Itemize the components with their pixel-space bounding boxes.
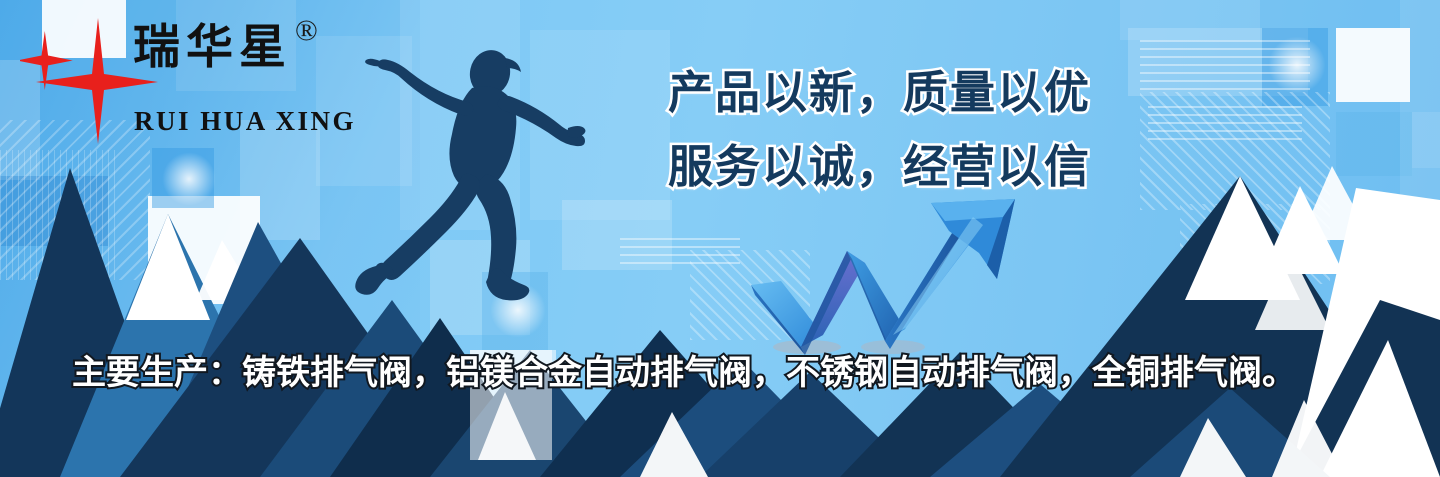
slogan-line-2: 服务以诚，经营以信 (668, 130, 1168, 204)
registered-trademark-icon: ® (295, 16, 318, 46)
logo-english-name: RUI HUA XING (134, 108, 356, 135)
company-banner: 瑞华星 ® RUI HUA XING 产品以新，质量以优 服务以诚，经营以信 主… (0, 0, 1440, 477)
product-list-text: 主要生产：铸铁排气阀，铝镁合金自动排气阀，不锈钢自动排气阀，全铜排气阀。 (72, 350, 1392, 396)
running-man-silhouette-icon (300, 28, 620, 328)
logo-chinese-name: 瑞华星 (133, 24, 292, 71)
company-logo: 瑞华星 ® RUI HUA XING (20, 10, 320, 140)
slogan-block: 产品以新，质量以优 服务以诚，经营以信 (668, 56, 1168, 204)
slogan-line-1: 产品以新，质量以优 (668, 56, 1168, 130)
